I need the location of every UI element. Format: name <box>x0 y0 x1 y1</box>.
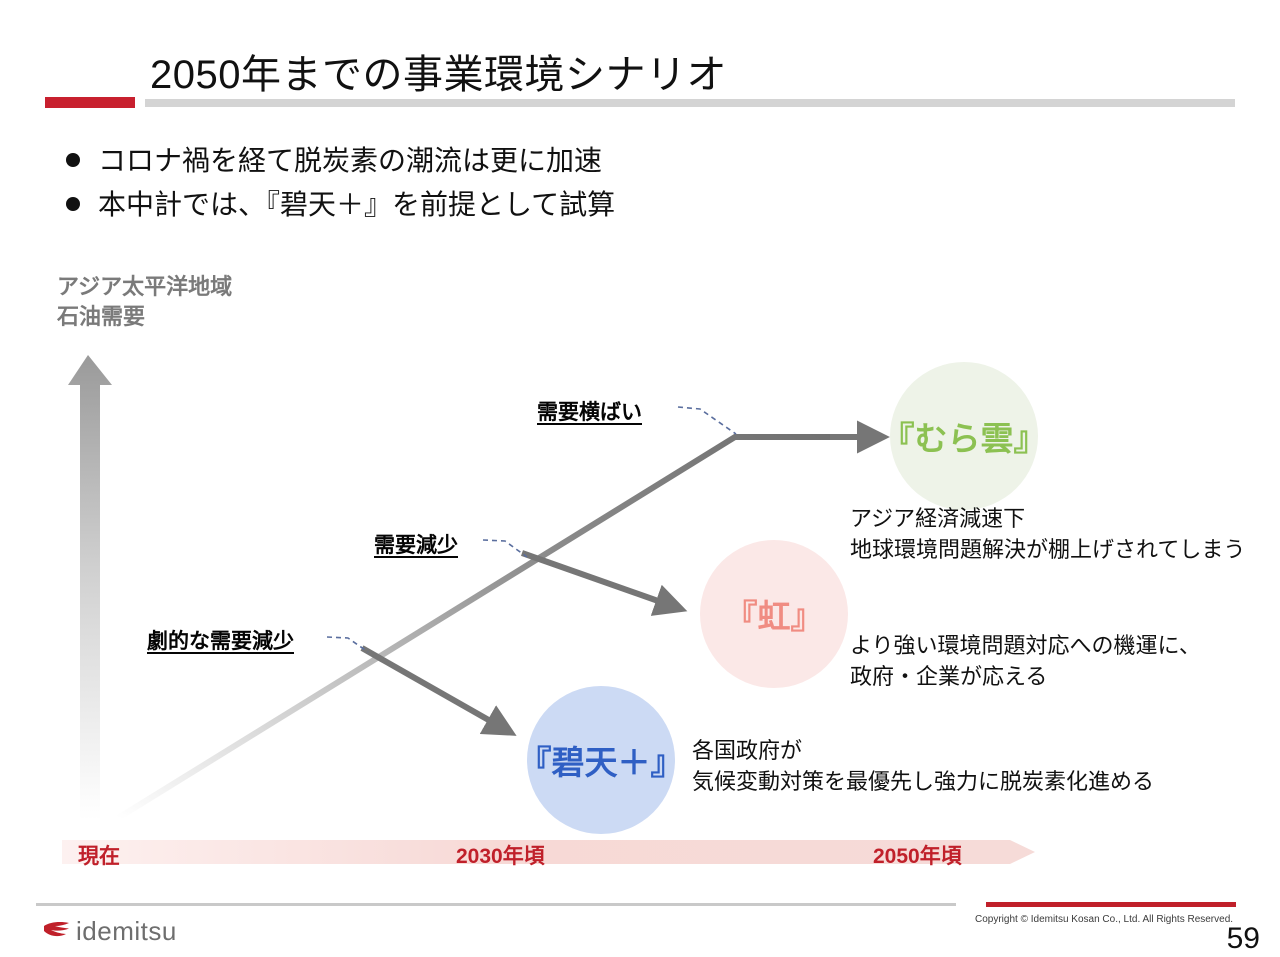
bullet-text: 本中計では、『碧天＋』を前提として試算 <box>98 187 615 223</box>
trend-line-decline <box>522 553 678 608</box>
scenario-circle-hekiten-plus[interactable]: 『碧天＋』 <box>527 686 675 834</box>
scenario-label: 『虹』 <box>725 590 824 638</box>
branch-label-drastic-decline: 劇的な需要減少 <box>147 625 294 655</box>
title-rule-gray <box>145 99 1235 107</box>
scenario-label: 『碧天＋』 <box>519 736 684 784</box>
bullet-text: コロナ禍を経て脱炭素の潮流は更に加速 <box>98 143 602 179</box>
leader-line-flat <box>678 407 736 434</box>
scenario-description-hekiten-plus: 各国政府が 気候変動対策を最優先し強力に脱炭素化進める <box>692 735 1154 797</box>
timeline-label-now: 現在 <box>78 840 120 870</box>
slide-root: { "slide": { "title": "2050年までの事業環境シナリオ"… <box>0 0 1280 957</box>
y-axis-label: アジア太平洋地域石油需要 <box>57 272 232 332</box>
footer-rule-gray <box>36 903 956 906</box>
y-axis-label-line1: アジア太平洋地域 <box>57 274 232 299</box>
logo-text: idemitsu <box>76 916 177 947</box>
scenario-circle-muragumo[interactable]: 『むら雲』 <box>890 362 1038 510</box>
bullet-dot-icon <box>66 197 80 211</box>
leader-line-drastic-decline <box>327 637 368 652</box>
footer-rule-red <box>986 902 1236 907</box>
timeline-label-2030: 2030年頃 <box>456 840 545 870</box>
y-axis-label-line2: 石油需要 <box>57 304 145 329</box>
idemitsu-logo: idemitsu <box>42 916 177 947</box>
bullet-dot-icon <box>66 153 80 167</box>
timeline-label-2050: 2050年頃 <box>873 840 962 870</box>
flame-mark-icon <box>42 919 72 945</box>
bullet-list: コロナ禍を経て脱炭素の潮流は更に加速 本中計では、『碧天＋』を前提として試算 <box>66 143 866 231</box>
branch-label-flat-demand: 需要横ばい <box>537 396 642 426</box>
copyright-text: Copyright © Idemitsu Kosan Co., Ltd. All… <box>975 914 1233 925</box>
page-number: 59 <box>1227 922 1260 956</box>
branch-label-demand-decline: 需要減少 <box>374 529 458 559</box>
page-title: 2050年までの事業環境シナリオ <box>150 42 727 100</box>
list-item: コロナ禍を経て脱炭素の潮流は更に加速 <box>66 143 866 179</box>
title-accent-rule-red <box>45 97 135 108</box>
y-axis-arrow <box>68 355 112 820</box>
scenario-description-muragumo: アジア経済減速下 地球環境問題解決が棚上げされてしまう <box>850 503 1245 565</box>
list-item: 本中計では、『碧天＋』を前提として試算 <box>66 187 866 223</box>
trend-line-drastic-decline <box>362 648 508 731</box>
leader-line-decline <box>483 540 527 557</box>
scenario-circle-niji[interactable]: 『虹』 <box>700 540 848 688</box>
scenario-description-niji: より強い環境問題対応への機運に、 政府・企業が応える <box>850 630 1201 692</box>
scenario-label: 『むら雲』 <box>882 412 1047 460</box>
